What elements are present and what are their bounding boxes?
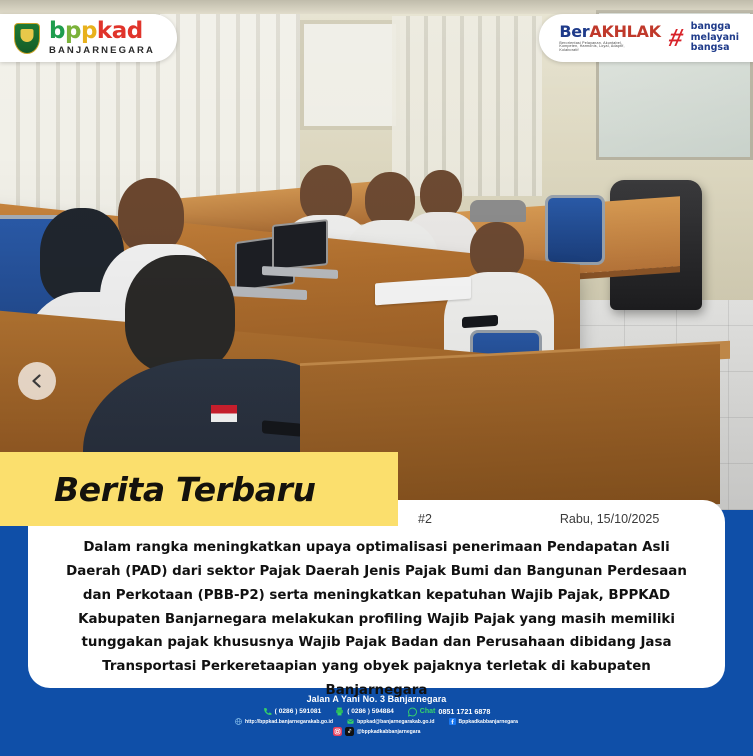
news-body-text: Dalam rangka meningkatkan upaya optimali… — [28, 526, 725, 703]
website-item[interactable]: http://bppkad.banjarnegarakab.go.id — [235, 718, 333, 725]
footer-contact-row: ( 0286 ) 591081 ( 0286 ) 594884 Chat 085… — [0, 707, 753, 716]
berakhlak-prefix: Ber — [559, 22, 589, 41]
berakhlak-logo: BerAKHLAK Berorientasi Pelayanan, Akunta… — [539, 14, 753, 62]
bppkad-letter-b: b — [49, 18, 65, 44]
berakhlak-wordmark: BerAKHLAK — [559, 24, 660, 40]
globe-icon — [235, 718, 242, 725]
email-icon — [347, 718, 354, 725]
bangga-melayani-bangsa: bangga melayani bangsa — [691, 22, 739, 54]
email-address: bppkad@banjarnegarakab.go.id — [357, 719, 434, 725]
website-url: http://bppkad.banjarnegarakab.go.id — [245, 719, 333, 725]
phone-icon — [263, 707, 272, 716]
indonesia-flag-patch — [211, 405, 237, 422]
facebook-item[interactable]: Bppkadkabbanjarnegara — [449, 718, 518, 725]
fax-item: ( 0286 ) 594884 — [335, 707, 394, 716]
news-poster: bppkad BANJARNEGARA BerAKHLAK Berorienta… — [0, 0, 753, 756]
whatsapp-chat-label: Chat — [420, 708, 436, 715]
photo-whiteboard — [300, 20, 400, 130]
bppkad-logo: bppkad BANJARNEGARA — [0, 14, 177, 62]
photo-window-blinds-mid — [392, 16, 542, 196]
news-card: #2 Rabu, 15/10/2025 Dalam rangka meningk… — [28, 500, 725, 688]
berakhlak-main: AKHLAK — [589, 22, 660, 41]
fax-number: ( 0286 ) 594884 — [347, 708, 394, 715]
bppkad-wordmark: bppkad — [49, 20, 155, 43]
hash-icon: # — [666, 26, 685, 51]
bppkad-letter-p2: p — [81, 18, 97, 44]
bangga-line-3: bangsa — [691, 43, 739, 54]
email-item[interactable]: bppkad@banjarnegarakab.go.id — [347, 718, 434, 725]
footer-social-row: @bppkadkabbanjarnegara — [0, 727, 753, 736]
bppkad-letters-kad: kad — [97, 18, 143, 44]
tiktok-icon — [345, 727, 354, 736]
berakhlak-tagline: Berorientasi Pelayanan, Akuntabel, Kompe… — [559, 42, 637, 53]
social-handle: @bppkadkabbanjarnegara — [357, 729, 421, 735]
instagram-icon — [333, 727, 342, 736]
banjarnegara-crest-icon — [14, 23, 40, 54]
publish-date: Rabu, 15/10/2025 — [560, 512, 659, 526]
issue-number: #2 — [418, 512, 432, 526]
bppkad-letter-p1: p — [65, 18, 81, 44]
whatsapp-icon — [408, 707, 417, 716]
carousel-prev-button[interactable] — [18, 362, 56, 400]
whatsapp-item: Chat 0851 1721 6878 — [408, 707, 491, 716]
news-photo — [0, 0, 753, 510]
social-item[interactable]: @bppkadkabbanjarnegara — [333, 727, 421, 736]
footer-web-row: http://bppkad.banjarnegarakab.go.id bppk… — [0, 718, 753, 725]
photo-chair-blue-back — [545, 195, 605, 265]
berita-terbaru-banner: Berita Terbaru — [0, 452, 398, 526]
whatsapp-number: 0851 1721 6878 — [438, 707, 490, 716]
facebook-name: Bppkadkabbanjarnegara — [459, 719, 518, 725]
printer-icon — [335, 707, 344, 716]
bppkad-subtitle: BANJARNEGARA — [49, 46, 155, 56]
chevron-left-icon — [29, 373, 45, 389]
banner-title: Berita Terbaru — [54, 470, 316, 509]
phone-number: ( 0286 ) 591081 — [275, 708, 322, 715]
phone-item: ( 0286 ) 591081 — [263, 707, 322, 716]
facebook-icon — [449, 718, 456, 725]
